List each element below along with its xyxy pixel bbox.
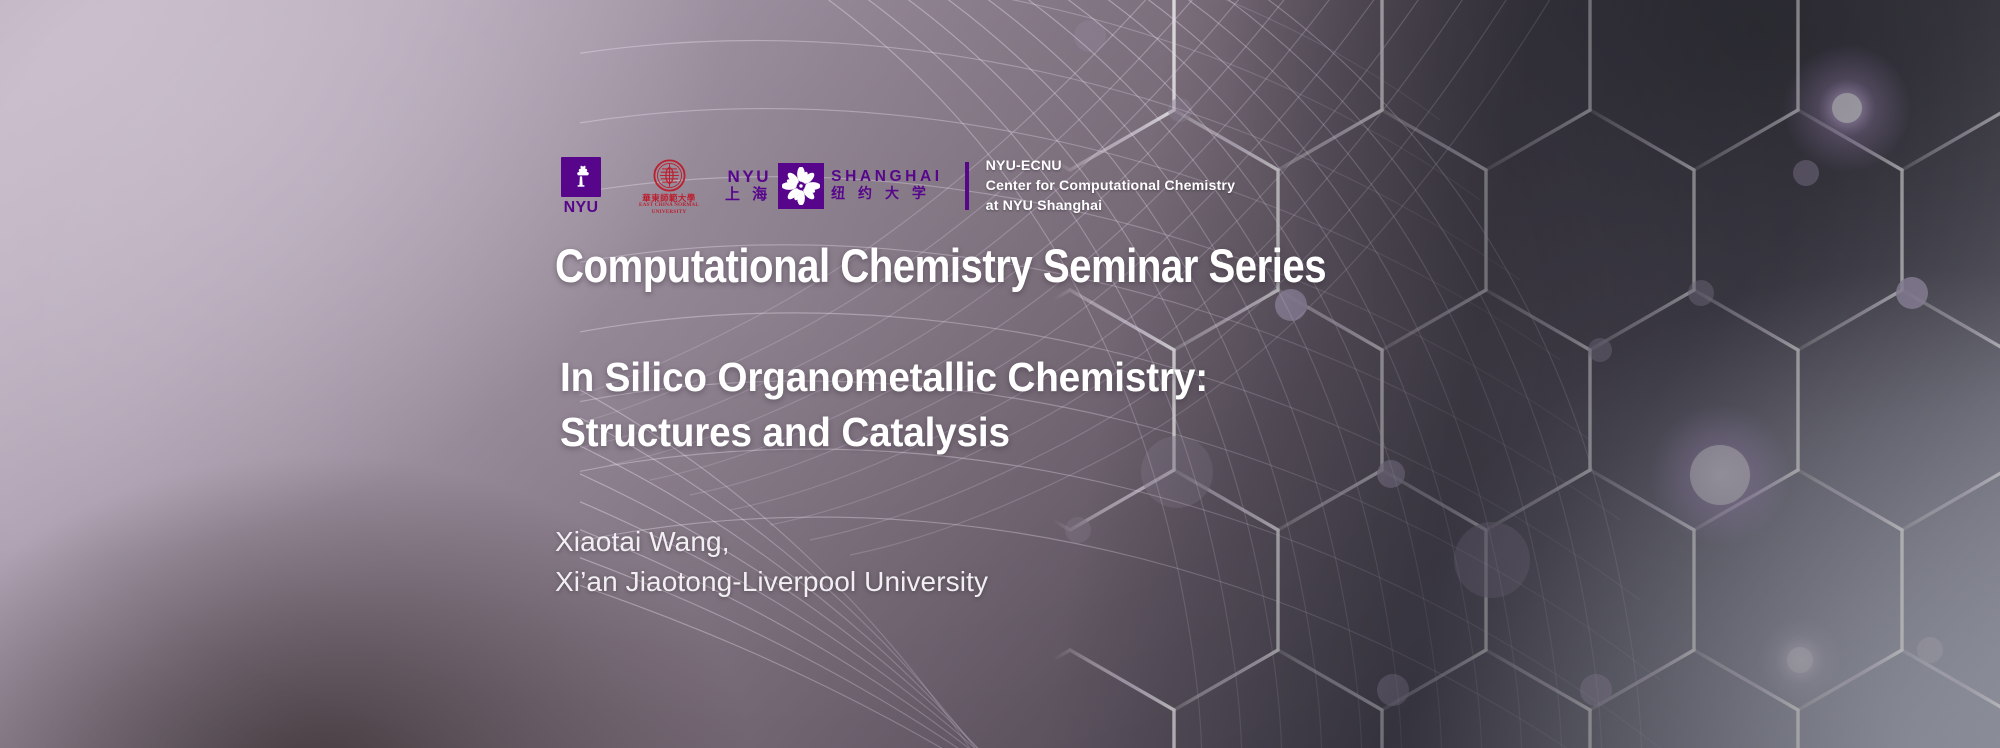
center-name-line1: NYU-ECNU	[986, 156, 1235, 176]
magnolia-flower-icon	[778, 163, 824, 209]
nyu-shanghai-shanghai-text: SHANGHAI	[831, 169, 942, 185]
talk-title-line1: In Silico Organometallic Chemistry:	[560, 350, 1208, 405]
ecnu-english-line2: UNIVERSITY	[652, 209, 687, 216]
talk-title-line2: Structures and Catalysis	[560, 405, 1208, 460]
ecnu-chinese-name: 華東師範大學	[642, 194, 695, 203]
nyu-shanghai-nyu-chinese: 纽 约 大 学	[831, 185, 942, 203]
speaker-block: Xiaotai Wang, Xi’an Jiaotong-Liverpool U…	[555, 522, 988, 602]
nyu-shanghai-logo: NYU 上 海	[725, 160, 943, 212]
nyu-shanghai-nyu-text: NYU	[725, 168, 771, 186]
speaker-name: Xiaotai Wang,	[555, 522, 988, 562]
nyu-shanghai-shanghai-chinese: 上 海	[725, 186, 771, 204]
nyu-torch-icon	[561, 157, 601, 197]
nyu-logo: NYU	[555, 157, 607, 216]
logo-divider	[965, 162, 969, 210]
nyu-wordmark: NYU	[564, 200, 599, 216]
ecnu-logo: 華東師範大學 EAST CHINA NORMAL UNIVERSITY	[629, 157, 709, 216]
talk-title: In Silico Organometallic Chemistry: Stru…	[560, 350, 1208, 459]
banner-content: NYU 華東師範大學 EAST CHINA NORMAL	[555, 0, 1655, 748]
series-title: Computational Chemistry Seminar Series	[555, 238, 1326, 293]
center-name-line2: Center for Computational Chemistry	[986, 176, 1235, 196]
seminar-announcement-banner: NYU 華東師範大學 EAST CHINA NORMAL	[0, 0, 2000, 748]
center-name-line3: at NYU Shanghai	[986, 196, 1235, 216]
speaker-affiliation: Xi’an Jiaotong-Liverpool University	[555, 562, 988, 602]
institution-logo-row: NYU 華東師範大學 EAST CHINA NORMAL	[555, 150, 1235, 222]
center-name-block: NYU-ECNU Center for Computational Chemis…	[986, 156, 1235, 216]
ecnu-seal-icon	[653, 159, 686, 192]
